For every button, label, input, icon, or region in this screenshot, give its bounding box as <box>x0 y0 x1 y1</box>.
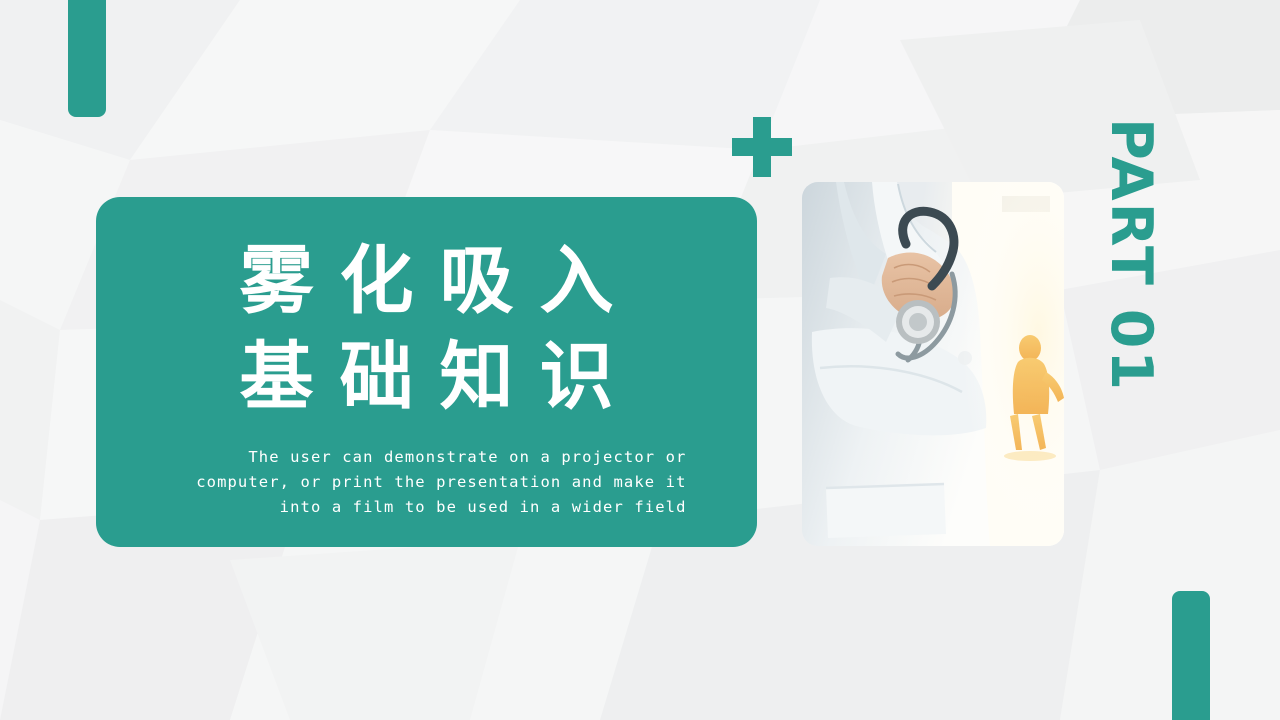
cross-horizontal-bar <box>732 138 792 156</box>
decorative-bar-bottom-right <box>1172 591 1210 720</box>
medical-cross-icon <box>732 117 792 177</box>
doctor-photo <box>802 182 1064 546</box>
doctor-photo-illustration <box>802 182 1064 546</box>
presentation-slide: 雾化吸入 基础知识 The user can demonstrate on a … <box>0 0 1280 720</box>
section-label-text: PART 01 <box>1098 118 1164 392</box>
decorative-bar-top-left <box>68 0 106 117</box>
section-label: PART 01 <box>1098 222 1164 482</box>
subtitle-text: The user can demonstrate on a projector … <box>167 445 687 520</box>
page-title-line-1: 雾化吸入 <box>214 233 640 329</box>
page-title-line-2: 基础知识 <box>214 329 640 425</box>
title-card: 雾化吸入 基础知识 The user can demonstrate on a … <box>96 197 757 547</box>
